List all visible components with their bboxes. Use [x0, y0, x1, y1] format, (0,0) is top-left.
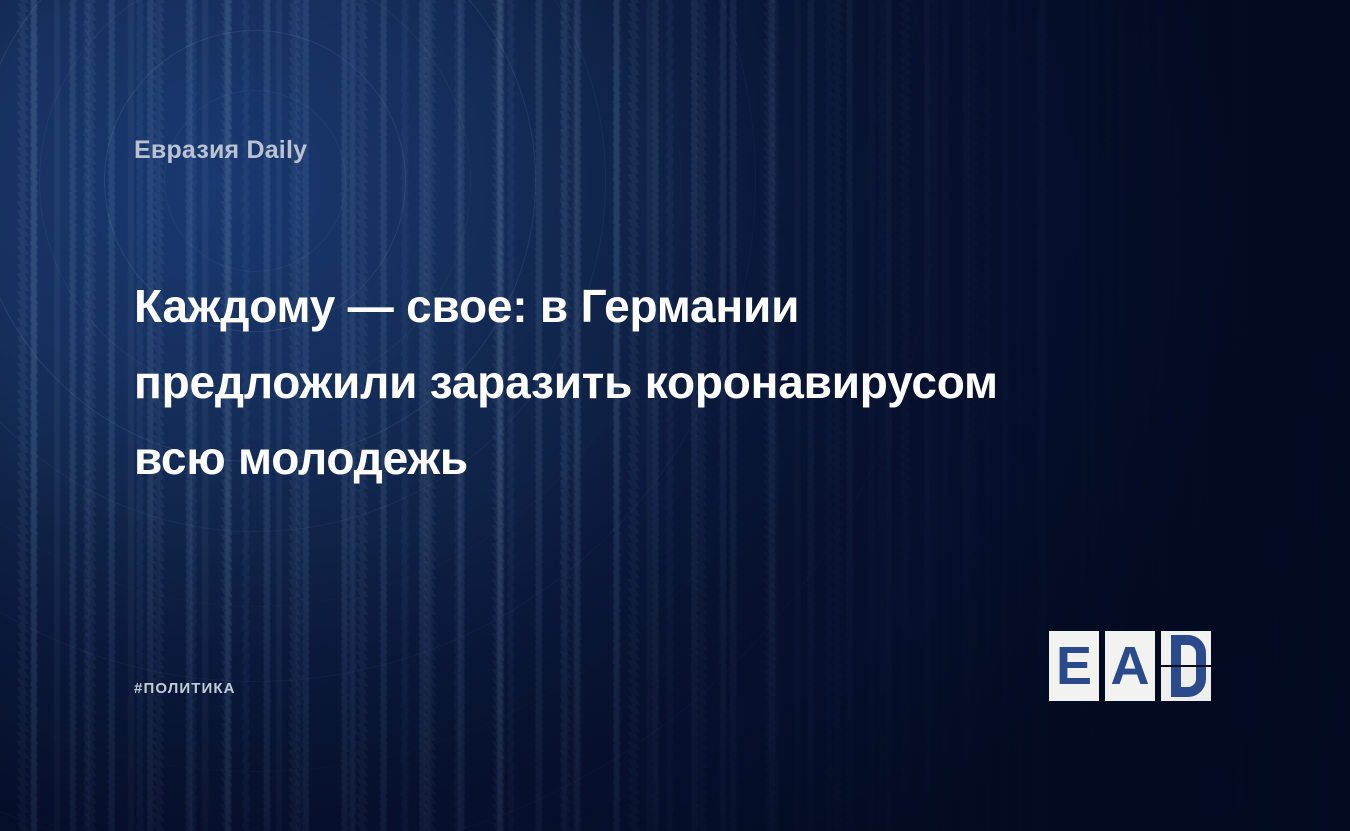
- eadaily-logo[interactable]: E A: [1049, 631, 1211, 701]
- headline-line-1: Каждому — свое: в Германии: [134, 268, 1184, 344]
- logo-d-lower-half: [1161, 667, 1211, 701]
- logo-tile-d-split: [1161, 631, 1211, 701]
- headline-line-3: всю молодежь: [134, 420, 1184, 496]
- logo-tile-a: A: [1105, 631, 1155, 701]
- logo-tile-e: E: [1049, 631, 1099, 701]
- category-hashtag[interactable]: #ПОЛИТИКА: [134, 680, 236, 697]
- headline-line-2: предложили заразить коронавирусом: [134, 344, 1184, 420]
- news-cover-card: Евразия Daily Каждому — свое: в Германии…: [0, 0, 1350, 831]
- publication-masthead: Евразия Daily: [134, 136, 307, 165]
- logo-d-upper-half: [1161, 631, 1211, 665]
- cover-content: Евразия Daily Каждому — свое: в Германии…: [0, 0, 1350, 831]
- headline: Каждому — свое: в Германии предложили за…: [134, 268, 1184, 496]
